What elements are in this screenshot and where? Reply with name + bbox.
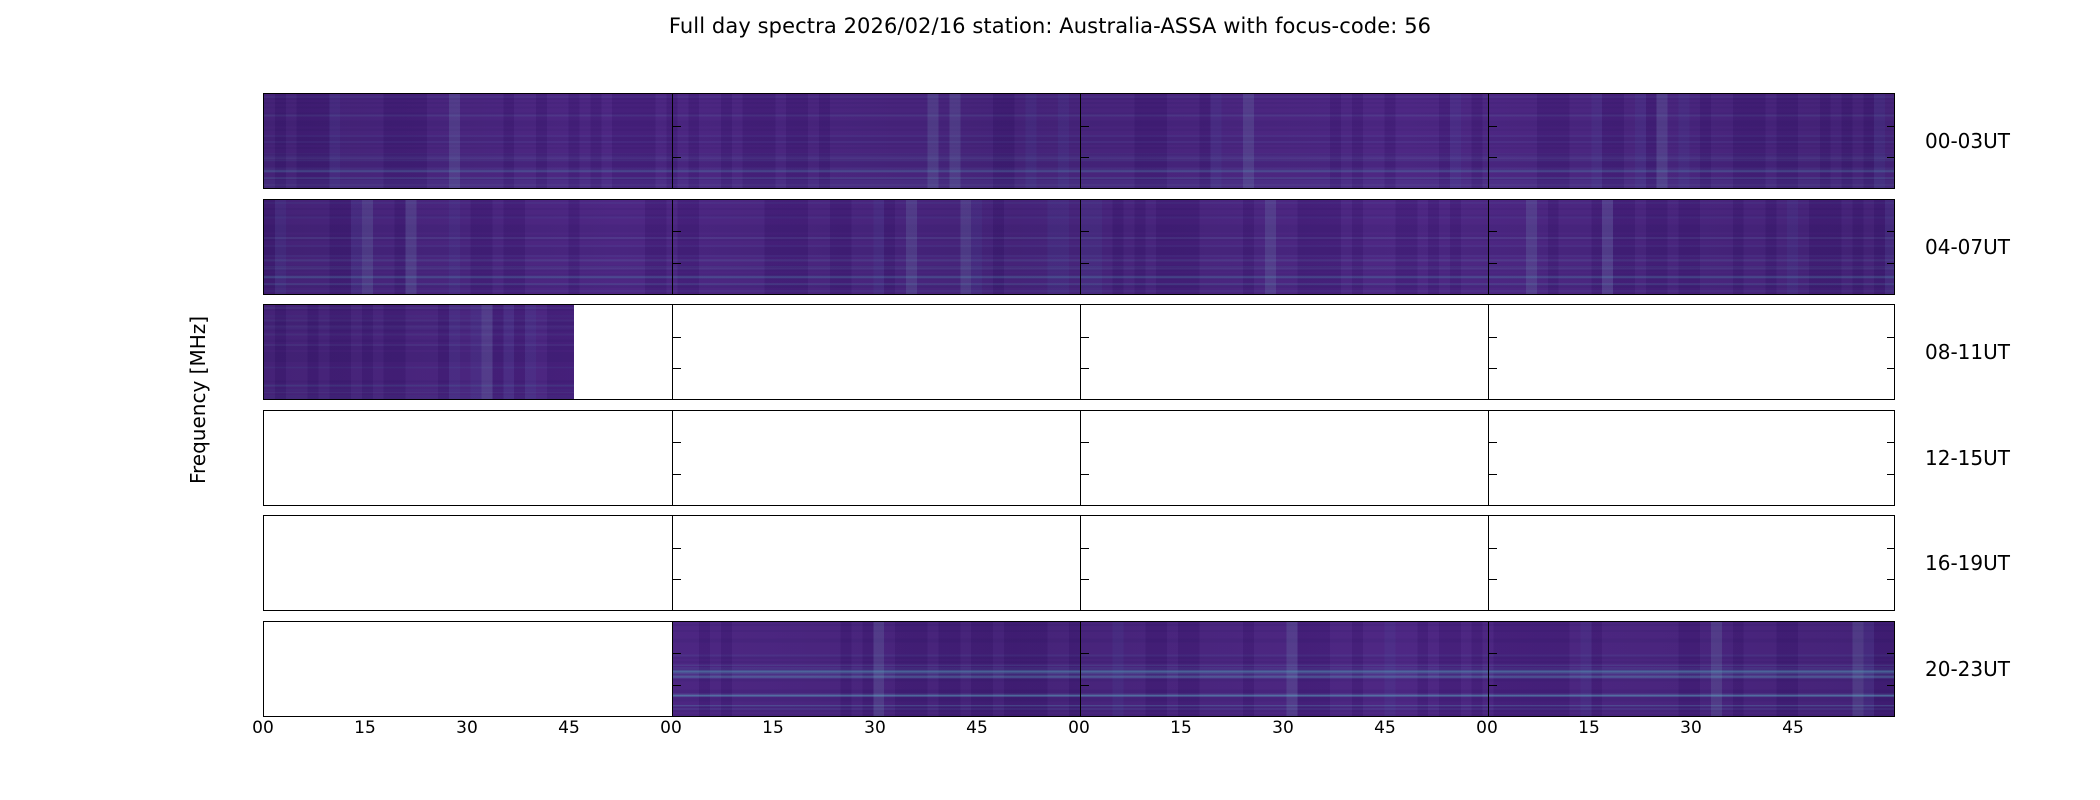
y-tick-mark-right (1887, 548, 1895, 549)
y-tick-mark (263, 474, 264, 475)
x-tick-label: 00 (660, 718, 682, 738)
y-tick-mark-inner (1488, 263, 1497, 264)
hour-separator (1080, 305, 1081, 399)
page-title: Full day spectra 2026/02/16 station: Aus… (0, 14, 2100, 38)
y-tick-mark-inner (1080, 231, 1089, 232)
x-tick-label: 00 (252, 718, 274, 738)
hour-separator (1488, 411, 1489, 505)
y-tick-mark-inner (672, 263, 681, 264)
hour-separator (672, 94, 673, 188)
y-tick-mark (263, 368, 264, 369)
y-tick-mark-inner (672, 368, 681, 369)
spectrogram-panel-16-19ut[interactable]: 300200 (263, 515, 1895, 611)
y-tick-mark-inner (1488, 653, 1497, 654)
y-tick-mark-inner (1488, 548, 1497, 549)
hour-separator (1080, 200, 1081, 294)
panel-time-label-16-19ut: 16-19UT (1925, 551, 2010, 575)
panel-time-label-08-11ut: 08-11UT (1925, 340, 2010, 364)
x-tick-label: 45 (558, 718, 580, 738)
x-tick-label: 30 (1272, 718, 1294, 738)
spectrogram-panel-00-03ut[interactable]: 300200 (263, 93, 1895, 189)
y-tick-mark-inner (672, 685, 681, 686)
y-tick-mark-right (1887, 157, 1895, 158)
hour-separator (672, 516, 673, 610)
y-tick-mark-inner (1080, 548, 1089, 549)
y-axis-label-text: Frequency [MHz] (186, 316, 210, 484)
y-tick-mark-inner (1488, 231, 1497, 232)
y-tick-mark (263, 579, 264, 580)
x-tick-label: 00 (1476, 718, 1498, 738)
y-tick-mark-right (1887, 337, 1895, 338)
hour-separator (1488, 516, 1489, 610)
spectrogram-image (264, 305, 574, 399)
y-tick-mark-inner (1080, 263, 1089, 264)
y-tick-mark-inner (672, 337, 681, 338)
spectrogram-panel-08-11ut[interactable]: 300200 (263, 304, 1895, 400)
x-axis: 00153045001530450015304500153045 (263, 714, 1895, 754)
y-tick-mark-inner (672, 231, 681, 232)
y-tick-mark-right (1887, 685, 1895, 686)
panel-time-label-00-03ut: 00-03UT (1925, 129, 2010, 153)
y-tick-mark-inner (1488, 579, 1497, 580)
y-tick-mark-inner (1488, 337, 1497, 338)
y-axis-label: Frequency [MHz] (183, 0, 213, 800)
hour-separator (1080, 94, 1081, 188)
y-tick-mark-right (1887, 442, 1895, 443)
hour-separator (1488, 94, 1489, 188)
y-tick-mark-inner (1080, 579, 1089, 580)
y-tick-mark (263, 126, 264, 127)
hour-separator (1080, 516, 1081, 610)
spectrogram-panel-20-23ut[interactable]: 300200 (263, 621, 1895, 717)
y-tick-mark-inner (1080, 126, 1089, 127)
y-tick-mark (263, 442, 264, 443)
spectrogram-data-region (672, 622, 1895, 716)
hour-separator (672, 622, 673, 716)
y-tick-mark (263, 337, 264, 338)
y-tick-mark-right (1887, 368, 1895, 369)
y-tick-mark-inner (672, 653, 681, 654)
x-tick-label: 15 (762, 718, 784, 738)
y-tick-mark-inner (1080, 368, 1089, 369)
y-tick-mark-inner (1080, 337, 1089, 338)
y-tick-mark-inner (1488, 368, 1497, 369)
y-tick-mark-right (1887, 653, 1895, 654)
hour-separator (1080, 411, 1081, 505)
y-tick-mark-inner (672, 548, 681, 549)
y-tick-mark-inner (1488, 157, 1497, 158)
y-tick-mark-inner (1488, 474, 1497, 475)
hour-separator (1488, 622, 1489, 716)
y-tick-mark-inner (1080, 442, 1089, 443)
spectrogram-data-region (264, 305, 574, 399)
panel-time-label-04-07ut: 04-07UT (1925, 235, 2010, 259)
y-tick-mark-inner (1080, 157, 1089, 158)
y-tick-mark-right (1887, 474, 1895, 475)
y-tick-mark-inner (1488, 126, 1497, 127)
panel-time-label-20-23ut: 20-23UT (1925, 657, 2010, 681)
y-tick-mark-inner (672, 157, 681, 158)
y-tick-mark (263, 263, 264, 264)
y-tick-mark (263, 685, 264, 686)
hour-separator (1488, 200, 1489, 294)
y-tick-mark-inner (1080, 474, 1089, 475)
x-tick-label: 15 (354, 718, 376, 738)
y-tick-mark-inner (1080, 685, 1089, 686)
y-tick-mark (263, 231, 264, 232)
y-tick-mark-inner (672, 442, 681, 443)
hour-separator (672, 305, 673, 399)
y-tick-mark-right (1887, 231, 1895, 232)
y-tick-mark (263, 548, 264, 549)
y-tick-mark-inner (672, 474, 681, 475)
hour-separator (672, 411, 673, 505)
x-tick-label: 45 (966, 718, 988, 738)
spectrogram-panel-04-07ut[interactable]: 300200 (263, 199, 1895, 295)
hour-separator (1080, 622, 1081, 716)
y-tick-mark-right (1887, 263, 1895, 264)
y-tick-mark-inner (1080, 653, 1089, 654)
x-tick-label: 30 (864, 718, 886, 738)
x-tick-label: 30 (1680, 718, 1702, 738)
x-tick-label: 15 (1578, 718, 1600, 738)
y-tick-mark-inner (672, 126, 681, 127)
x-tick-label: 45 (1782, 718, 1804, 738)
y-tick-mark-inner (1488, 442, 1497, 443)
hour-separator (1488, 305, 1489, 399)
y-tick-mark-inner (672, 579, 681, 580)
hour-separator (672, 200, 673, 294)
x-tick-label: 30 (456, 718, 478, 738)
y-tick-mark (263, 157, 264, 158)
y-tick-mark-right (1887, 579, 1895, 580)
x-tick-label: 00 (1068, 718, 1090, 738)
y-tick-mark (263, 653, 264, 654)
y-tick-mark-right (1887, 126, 1895, 127)
spectrogram-image (672, 622, 1895, 716)
x-tick-label: 15 (1170, 718, 1192, 738)
y-tick-mark-inner (1488, 685, 1497, 686)
x-tick-label: 45 (1374, 718, 1396, 738)
spectrogram-panel-12-15ut[interactable]: 300200 (263, 410, 1895, 506)
panel-time-label-12-15ut: 12-15UT (1925, 446, 2010, 470)
